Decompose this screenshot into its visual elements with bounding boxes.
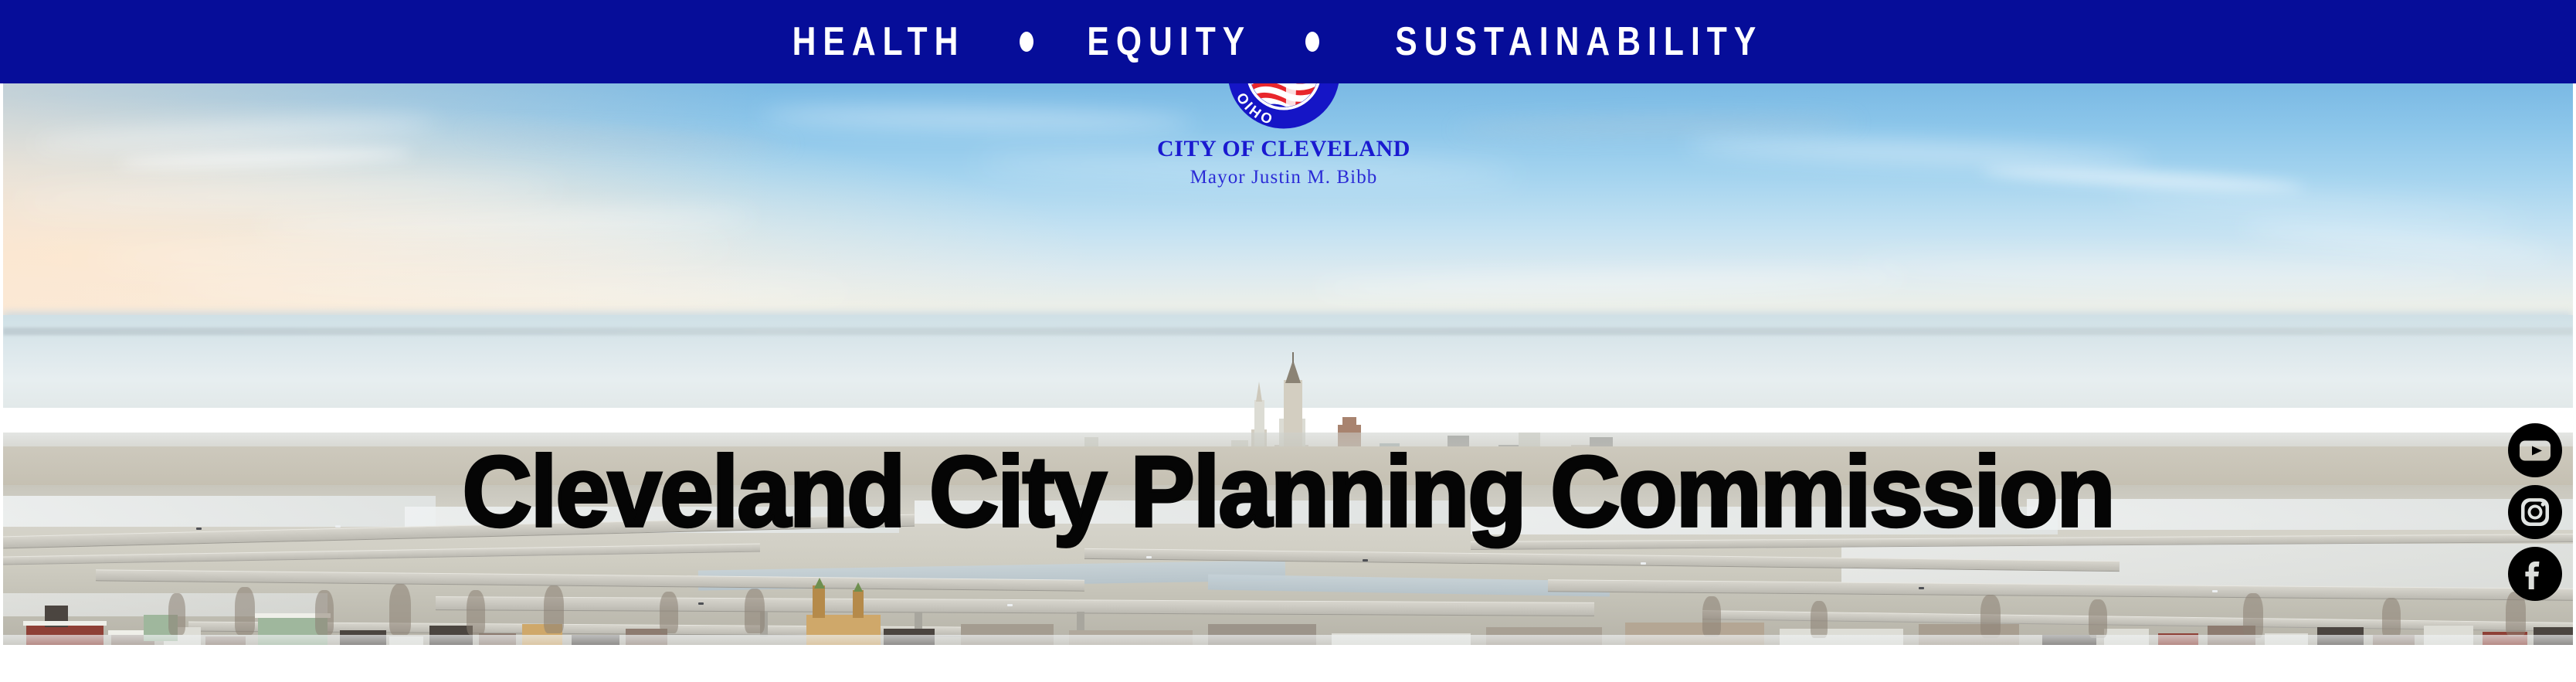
vehicle — [335, 525, 341, 528]
youtube-icon — [2508, 423, 2562, 477]
social-links — [2505, 423, 2565, 601]
tree — [1980, 595, 2001, 638]
terminal-tower-spire — [1256, 382, 1262, 402]
tree — [235, 587, 255, 635]
tagline-banner: HEALTH EQUITY SUSTAINABILITY — [0, 0, 2576, 83]
vehicle — [2212, 590, 2218, 592]
building-cap — [1342, 417, 1356, 431]
snow-field — [915, 500, 1455, 524]
tree — [315, 590, 334, 635]
key-tower-mast — [1292, 352, 1294, 363]
vehicle — [1919, 587, 1924, 589]
snow-field — [2027, 499, 2573, 530]
church-spire — [814, 578, 825, 589]
tree — [2382, 598, 2401, 638]
vehicle — [544, 522, 549, 524]
social-link-youtube[interactable] — [2508, 423, 2562, 477]
vehicle — [196, 528, 202, 530]
tagline-word-health: HEALTH — [792, 22, 965, 62]
page-edge-left — [0, 83, 3, 682]
page-edge-right — [2573, 83, 2576, 682]
social-link-instagram[interactable] — [2508, 485, 2562, 539]
logo-city-name: CITY OF CLEVELAND — [1157, 137, 1410, 161]
tagline-separator-dot-1 — [1020, 32, 1033, 52]
instagram-icon — [2508, 485, 2562, 539]
far-shoreline — [3, 327, 2573, 335]
tree — [1811, 601, 1828, 638]
tree — [2089, 599, 2107, 638]
tree — [168, 593, 185, 635]
facebook-icon — [2508, 547, 2562, 601]
tree — [467, 590, 485, 635]
vehicle — [1363, 559, 1368, 562]
social-link-facebook[interactable] — [2508, 547, 2562, 601]
snow-field — [1471, 507, 2058, 534]
page-root: HEALTH EQUITY SUSTAINABILITY — [0, 0, 2576, 682]
snow-strip — [3, 635, 2573, 645]
tree — [544, 585, 564, 633]
church-spire — [854, 582, 863, 592]
vehicle — [1007, 604, 1013, 606]
snow-field — [3, 496, 436, 527]
tagline-word-sustainability: SUSTAINABILITY — [1395, 22, 1763, 62]
vehicle — [1146, 556, 1152, 558]
tree — [660, 592, 678, 633]
page-edge-bottom — [0, 645, 2576, 682]
vehicle — [698, 602, 704, 605]
tagline-word-equity: EQUITY — [1087, 22, 1251, 62]
church-tower — [853, 590, 864, 618]
tagline-inner: HEALTH EQUITY SUSTAINABILITY — [773, 22, 1803, 62]
tree — [745, 589, 765, 633]
tree — [2243, 593, 2263, 638]
roof — [23, 621, 107, 626]
tree — [1702, 596, 1721, 636]
logo-mayor-name: Mayor Justin M. Bibb — [1190, 168, 1378, 187]
key-tower-pyramid — [1285, 360, 1301, 383]
vehicle — [1641, 562, 1646, 565]
tree — [389, 584, 411, 635]
church-tower — [813, 585, 825, 618]
tagline-separator-dot-2 — [1305, 32, 1319, 52]
